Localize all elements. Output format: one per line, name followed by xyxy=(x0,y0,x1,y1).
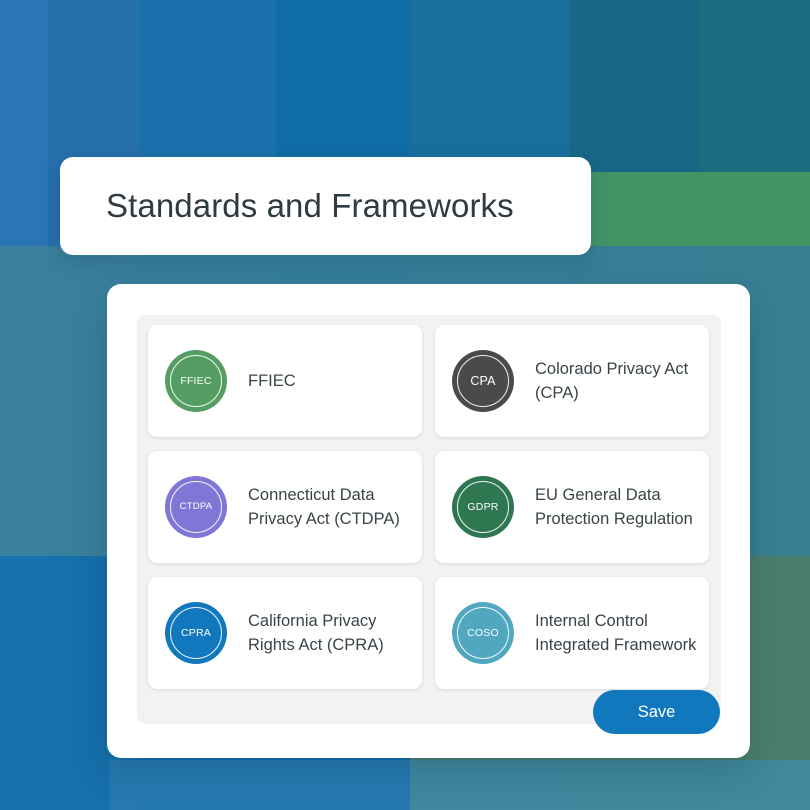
framework-badge-icon: CPA xyxy=(452,350,514,412)
page-title-card: Standards and Frameworks xyxy=(60,157,591,255)
framework-card[interactable]: CTDPAConnecticut Data Privacy Act (CTDPA… xyxy=(148,451,422,563)
page-title: Standards and Frameworks xyxy=(60,187,514,225)
framework-card[interactable]: CPAColorado Privacy Act (CPA) xyxy=(435,325,709,437)
framework-label: Internal Control Integrated Framework xyxy=(535,609,700,657)
save-button[interactable]: Save xyxy=(593,690,720,734)
framework-badge-abbr: GDPR xyxy=(467,502,498,513)
framework-label: Connecticut Data Privacy Act (CTDPA) xyxy=(248,483,413,531)
framework-badge-icon: COSO xyxy=(452,602,514,664)
frameworks-panel: FFIECFFIECCPAColorado Privacy Act (CPA)C… xyxy=(107,284,750,758)
framework-badge-icon: CTDPA xyxy=(165,476,227,538)
framework-label: Colorado Privacy Act (CPA) xyxy=(535,357,700,405)
framework-label: FFIEC xyxy=(248,369,296,393)
framework-card[interactable]: GDPREU General Data Protection Regulatio… xyxy=(435,451,709,563)
framework-badge-abbr: CTDPA xyxy=(180,502,213,512)
frameworks-grid: FFIECFFIECCPAColorado Privacy Act (CPA)C… xyxy=(148,325,709,689)
framework-badge-abbr: CPRA xyxy=(181,628,211,639)
framework-label: EU General Data Protection Regulation xyxy=(535,483,700,531)
band-teal-bottomedge xyxy=(410,760,810,810)
framework-badge-icon: CPRA xyxy=(165,602,227,664)
framework-card[interactable]: FFIECFFIEC xyxy=(148,325,422,437)
framework-label: California Privacy Rights Act (CPRA) xyxy=(248,609,413,657)
framework-badge-icon: FFIEC xyxy=(165,350,227,412)
frameworks-scroll-area[interactable]: FFIECFFIECCPAColorado Privacy Act (CPA)C… xyxy=(137,315,721,724)
framework-badge-abbr: COSO xyxy=(467,628,499,639)
framework-card[interactable]: COSOInternal Control Integrated Framewor… xyxy=(435,577,709,689)
framework-badge-icon: GDPR xyxy=(452,476,514,538)
framework-badge-abbr: CPA xyxy=(470,375,495,388)
framework-card[interactable]: CPRACalifornia Privacy Rights Act (CPRA) xyxy=(148,577,422,689)
band-blue-bottomedge xyxy=(110,760,410,810)
framework-badge-abbr: FFIEC xyxy=(180,376,211,387)
